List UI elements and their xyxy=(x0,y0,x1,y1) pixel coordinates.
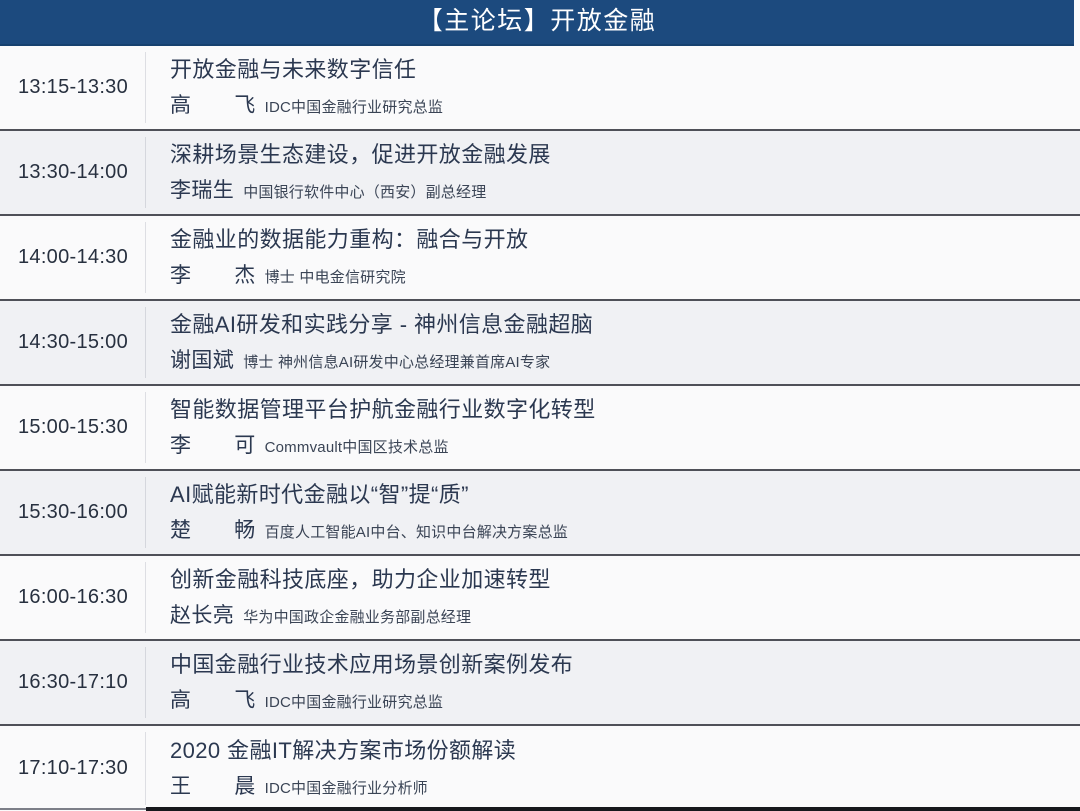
session-content-cell: 开放金融与未来数字信任高 飞IDC中国金融行业研究总监 xyxy=(146,46,1080,129)
session-title: 金融AI研发和实践分享 - 神州信息金融超脑 xyxy=(170,311,1066,339)
speaker-name: 赵长亮 xyxy=(170,599,234,629)
session-time-cell: 17:10-17:30 xyxy=(0,726,146,811)
session-title: 深耕场景生态建设，促进开放金融发展 xyxy=(170,141,1066,169)
session-time: 16:30-17:10 xyxy=(18,671,128,694)
session-title: 中国金融行业技术应用场景创新案例发布 xyxy=(170,651,1066,679)
session-time-cell: 13:15-13:30 xyxy=(0,46,146,129)
session-speaker-line: 楚 畅百度人工智能AI中台、知识中台解决方案总监 xyxy=(170,514,1066,544)
page-title: 【主论坛】开放金融 xyxy=(418,9,657,36)
session-content-cell: 智能数据管理平台护航金融行业数字化转型李 可Commvault中国区技术总监 xyxy=(146,386,1080,469)
speaker-name: 高 飞 xyxy=(170,684,256,714)
session-time: 14:00-14:30 xyxy=(18,246,128,269)
session-time: 16:00-16:30 xyxy=(18,586,128,609)
agenda-panel: 【主论坛】开放金融 13:15-13:30开放金融与未来数字信任高 飞IDC中国… xyxy=(0,0,1080,811)
bottom-rule-left xyxy=(0,808,146,810)
speaker-affiliation: 博士 神州信息AI研发中心总经理兼首席AI专家 xyxy=(243,351,550,372)
speaker-affiliation: 百度人工智能AI中台、知识中台解决方案总监 xyxy=(265,521,568,542)
session-content-cell: 深耕场景生态建设，促进开放金融发展李瑞生中国银行软件中心（西安）副总经理 xyxy=(146,131,1080,214)
session-content-cell: 中国金融行业技术应用场景创新案例发布高 飞IDC中国金融行业研究总监 xyxy=(146,641,1080,724)
session-title: 创新金融科技底座，助力企业加速转型 xyxy=(170,566,1066,594)
session-speaker-line: 赵长亮华为中国政企金融业务部副总经理 xyxy=(170,599,1066,629)
session-speaker-line: 李 可Commvault中国区技术总监 xyxy=(170,429,1066,459)
session-content-cell: 创新金融科技底座，助力企业加速转型赵长亮华为中国政企金融业务部副总经理 xyxy=(146,556,1080,639)
session-content-cell: 2020 金融IT解决方案市场份额解读王 晨IDC中国金融行业分析师 xyxy=(146,726,1080,811)
agenda-row: 15:30-16:00AI赋能新时代金融以“智”提“质”楚 畅百度人工智能AI中… xyxy=(0,471,1080,556)
session-speaker-line: 王 晨IDC中国金融行业分析师 xyxy=(170,770,1066,800)
session-title: 2020 金融IT解决方案市场份额解读 xyxy=(170,737,1066,765)
bottom-rule-right xyxy=(146,807,1080,811)
session-title: 金融业的数据能力重构：融合与开放 xyxy=(170,226,1066,254)
session-content-cell: AI赋能新时代金融以“智”提“质”楚 畅百度人工智能AI中台、知识中台解决方案总… xyxy=(146,471,1080,554)
bottom-rule xyxy=(0,807,1080,811)
session-time: 13:15-13:30 xyxy=(18,76,128,99)
session-time-cell: 14:00-14:30 xyxy=(0,216,146,299)
speaker-name: 王 晨 xyxy=(170,770,256,800)
session-speaker-line: 李 杰博士 中电金信研究院 xyxy=(170,259,1066,289)
session-time: 15:00-15:30 xyxy=(18,416,128,439)
speaker-name: 谢国斌 xyxy=(170,344,234,374)
speaker-name: 李 杰 xyxy=(170,259,256,289)
agenda-row: 14:00-14:30金融业的数据能力重构：融合与开放李 杰博士 中电金信研究院 xyxy=(0,216,1080,301)
session-time: 14:30-15:00 xyxy=(18,331,128,354)
session-speaker-line: 谢国斌博士 神州信息AI研发中心总经理兼首席AI专家 xyxy=(170,344,1066,374)
session-content-cell: 金融AI研发和实践分享 - 神州信息金融超脑谢国斌博士 神州信息AI研发中心总经… xyxy=(146,301,1080,384)
session-content-cell: 金融业的数据能力重构：融合与开放李 杰博士 中电金信研究院 xyxy=(146,216,1080,299)
agenda-row: 16:00-16:30创新金融科技底座，助力企业加速转型赵长亮华为中国政企金融业… xyxy=(0,556,1080,641)
agenda-row: 14:30-15:00金融AI研发和实践分享 - 神州信息金融超脑谢国斌博士 神… xyxy=(0,301,1080,386)
speaker-name: 楚 畅 xyxy=(170,514,256,544)
session-time-cell: 16:00-16:30 xyxy=(0,556,146,639)
speaker-affiliation: 中国银行软件中心（西安）副总经理 xyxy=(243,181,486,202)
speaker-affiliation: IDC中国金融行业分析师 xyxy=(265,777,428,798)
agenda-header: 【主论坛】开放金融 xyxy=(0,0,1074,46)
session-title: 开放金融与未来数字信任 xyxy=(170,56,1066,84)
session-time-cell: 15:00-15:30 xyxy=(0,386,146,469)
session-speaker-line: 高 飞IDC中国金融行业研究总监 xyxy=(170,89,1066,119)
session-time-cell: 13:30-14:00 xyxy=(0,131,146,214)
session-title: AI赋能新时代金融以“智”提“质” xyxy=(170,481,1066,509)
session-time: 17:10-17:30 xyxy=(18,757,128,780)
speaker-affiliation: IDC中国金融行业研究总监 xyxy=(265,691,443,712)
speaker-name: 高 飞 xyxy=(170,89,256,119)
agenda-row-list: 13:15-13:30开放金融与未来数字信任高 飞IDC中国金融行业研究总监13… xyxy=(0,46,1080,811)
agenda-row: 17:10-17:302020 金融IT解决方案市场份额解读王 晨IDC中国金融… xyxy=(0,726,1080,811)
session-time-cell: 14:30-15:00 xyxy=(0,301,146,384)
agenda-row: 13:15-13:30开放金融与未来数字信任高 飞IDC中国金融行业研究总监 xyxy=(0,46,1080,131)
session-title: 智能数据管理平台护航金融行业数字化转型 xyxy=(170,396,1066,424)
speaker-affiliation: 华为中国政企金融业务部副总经理 xyxy=(243,606,471,627)
session-time-cell: 15:30-16:00 xyxy=(0,471,146,554)
speaker-affiliation: IDC中国金融行业研究总监 xyxy=(265,96,443,117)
agenda-row: 15:00-15:30智能数据管理平台护航金融行业数字化转型李 可Commvau… xyxy=(0,386,1080,471)
session-speaker-line: 李瑞生中国银行软件中心（西安）副总经理 xyxy=(170,174,1066,204)
session-time: 13:30-14:00 xyxy=(18,161,128,184)
session-time-cell: 16:30-17:10 xyxy=(0,641,146,724)
session-time: 15:30-16:00 xyxy=(18,501,128,524)
agenda-row: 16:30-17:10中国金融行业技术应用场景创新案例发布高 飞IDC中国金融行… xyxy=(0,641,1080,726)
agenda-row: 13:30-14:00深耕场景生态建设，促进开放金融发展李瑞生中国银行软件中心（… xyxy=(0,131,1080,216)
speaker-affiliation: 博士 中电金信研究院 xyxy=(265,266,406,287)
speaker-name: 李 可 xyxy=(170,429,256,459)
speaker-name: 李瑞生 xyxy=(170,174,234,204)
speaker-affiliation: Commvault中国区技术总监 xyxy=(265,436,449,457)
session-speaker-line: 高 飞IDC中国金融行业研究总监 xyxy=(170,684,1066,714)
